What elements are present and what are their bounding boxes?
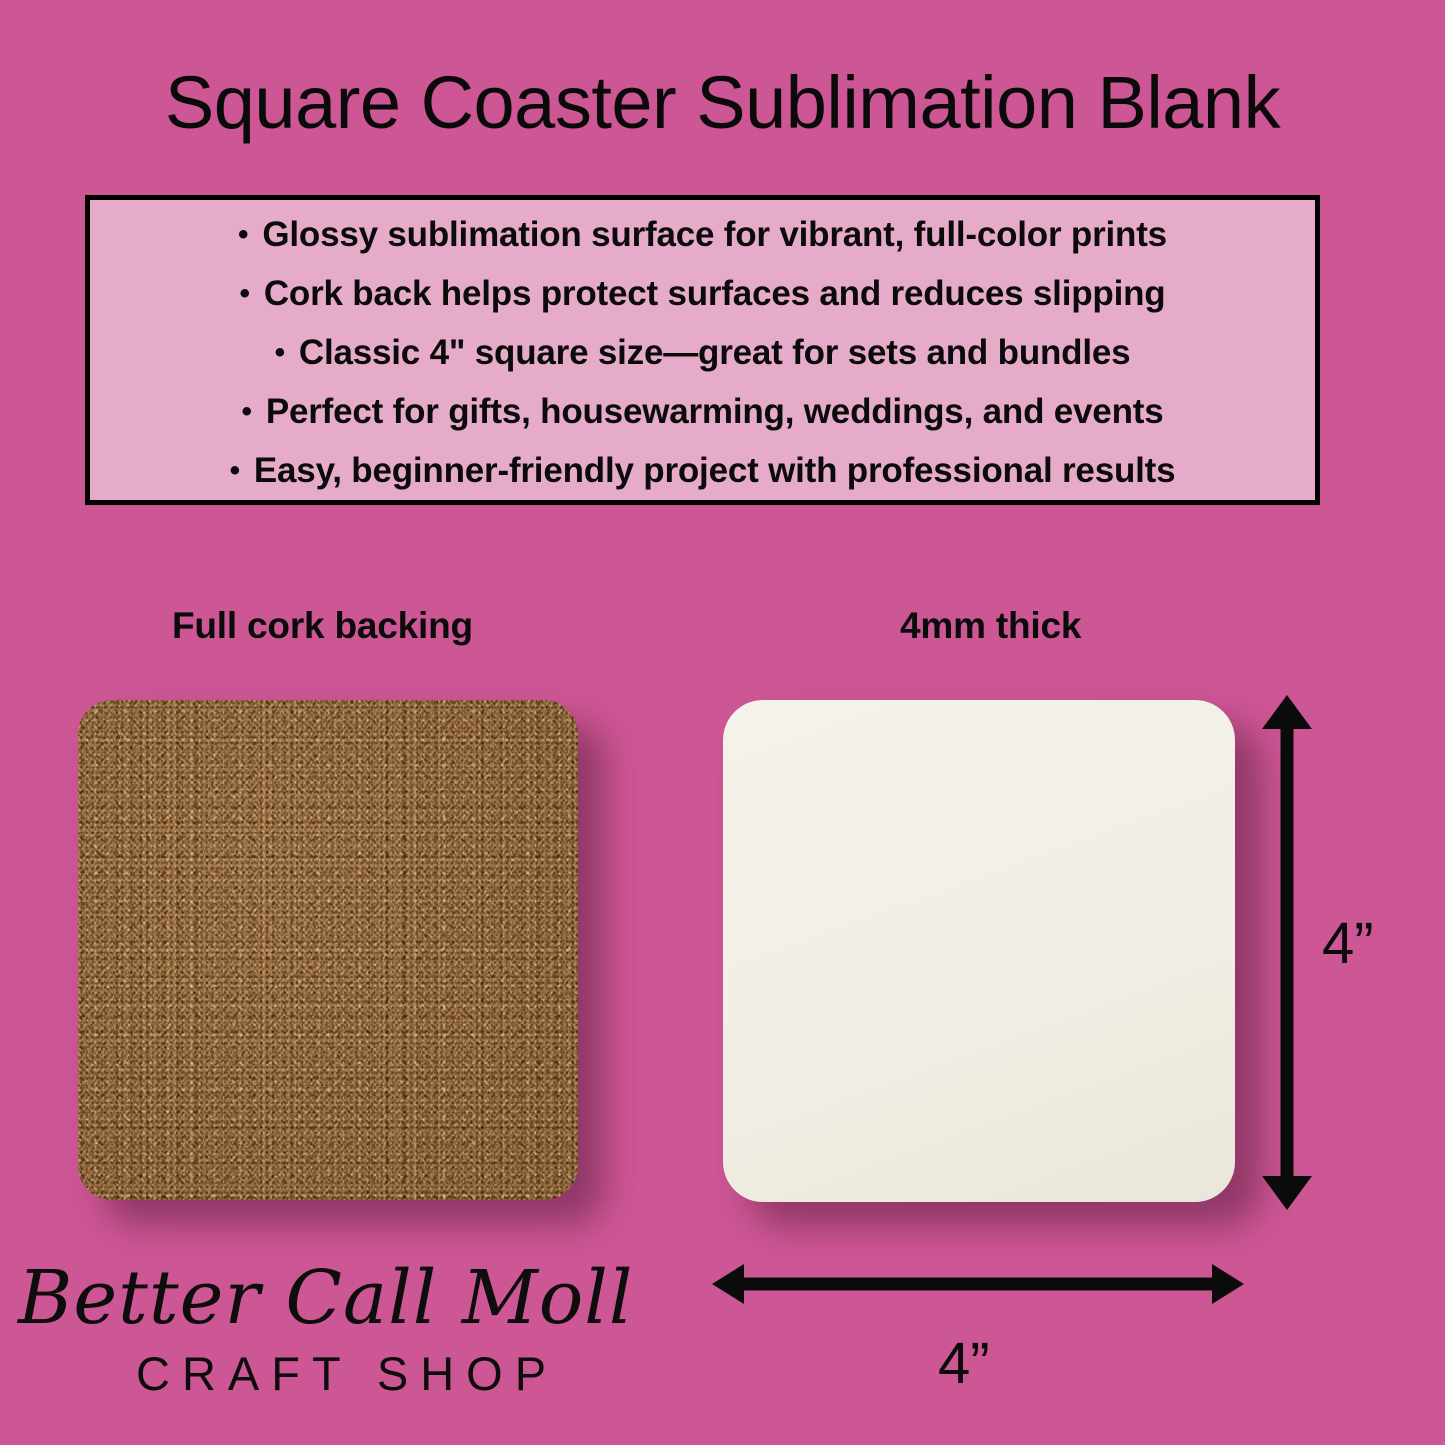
height-dimension-arrow-icon	[1245, 695, 1329, 1210]
white-front-coaster-image	[723, 700, 1235, 1202]
list-item-label: Glossy sublimation surface for vibrant, …	[262, 215, 1167, 254]
caption-cork-backing: Full cork backing	[172, 605, 473, 647]
bullet-icon: •	[242, 382, 252, 441]
list-item: •Cork back helps protect surfaces and re…	[240, 264, 1166, 323]
brand-tagline: CRAFT SHOP	[136, 1346, 558, 1402]
width-dimension-arrow-icon	[712, 1258, 1244, 1336]
bullet-icon: •	[230, 441, 240, 500]
brand-logo: Better Call Moll CRAFT SHOP	[18, 1250, 578, 1435]
list-item: •Easy, beginner-friendly project with pr…	[230, 441, 1176, 500]
height-dimension-label: 4”	[1322, 910, 1374, 977]
list-item: •Classic 4" square size—great for sets a…	[275, 323, 1131, 382]
list-item-label: Perfect for gifts, housewarming, wedding…	[266, 392, 1164, 431]
product-graphic-canvas: Square Coaster Sublimation Blank •Glossy…	[0, 0, 1445, 1445]
width-dimension-label: 4”	[938, 1330, 990, 1397]
list-item: •Glossy sublimation surface for vibrant,…	[238, 205, 1167, 264]
feature-list-box: •Glossy sublimation surface for vibrant,…	[85, 195, 1320, 505]
brand-name: Better Call Moll	[18, 1250, 578, 1346]
list-item-label: Cork back helps protect surfaces and red…	[264, 274, 1166, 313]
caption-thickness: 4mm thick	[900, 605, 1081, 647]
cork-back-coaster-image	[78, 700, 578, 1200]
bullet-icon: •	[238, 205, 248, 264]
bullet-icon: •	[240, 264, 250, 323]
list-item: •Perfect for gifts, housewarming, weddin…	[242, 382, 1164, 441]
list-item-label: Easy, beginner-friendly project with pro…	[254, 451, 1176, 490]
page-title: Square Coaster Sublimation Blank	[0, 60, 1445, 146]
list-item-label: Classic 4" square size—great for sets an…	[299, 333, 1131, 372]
bullet-icon: •	[275, 323, 285, 382]
